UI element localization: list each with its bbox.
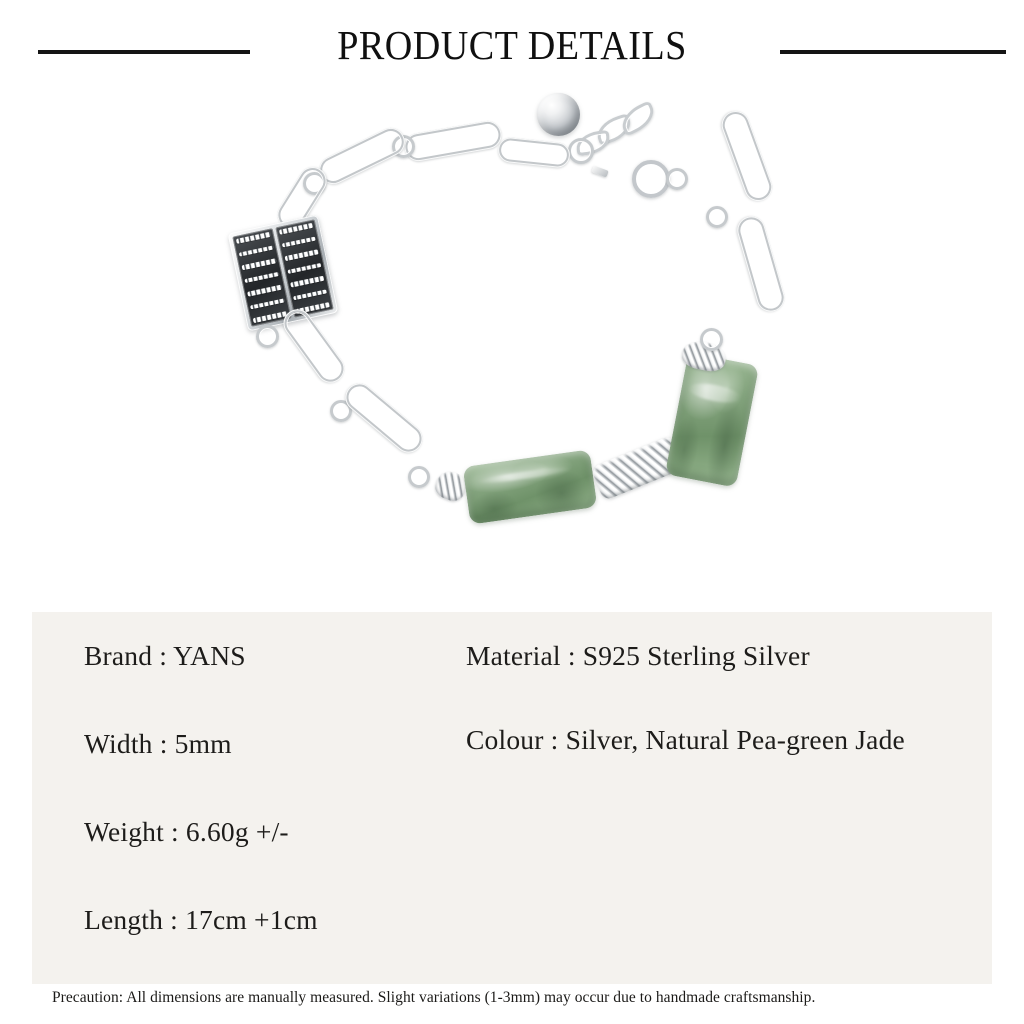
- jump-ring: [256, 325, 279, 348]
- abacus-bead-row: [284, 249, 319, 261]
- abacus-bead-row: [290, 276, 325, 288]
- abacus-bead-row: [239, 245, 274, 257]
- abacus-charm: [228, 215, 339, 332]
- spec-width: Width : 5mm: [84, 726, 484, 762]
- chain-link: [718, 107, 776, 205]
- abacus-bead-row: [293, 289, 328, 301]
- ball-charm: [537, 93, 580, 136]
- spec-column-left: Brand : YANS Width : 5mm Weight : 6.60g …: [84, 638, 484, 990]
- abacus-bead-row: [236, 232, 271, 244]
- abacus-bead-row: [281, 236, 316, 248]
- spec-panel: Brand : YANS Width : 5mm Weight : 6.60g …: [32, 612, 992, 984]
- clasp-tab: [591, 165, 608, 177]
- chain-link: [497, 136, 571, 168]
- product-photo: [0, 80, 1024, 610]
- abacus-bead-row: [244, 272, 279, 284]
- spec-colour: Colour : Silver, Natural Pea-green Jade: [466, 722, 936, 758]
- page-title: PRODUCT DETAILS: [36, 21, 988, 69]
- abacus-bead-row: [247, 285, 282, 297]
- jump-ring: [568, 138, 594, 164]
- spec-weight: Weight : 6.60g +/-: [84, 814, 484, 850]
- chain-link: [315, 123, 410, 188]
- header-rule-right: [780, 50, 1006, 54]
- jade-cylinder-bead: [665, 352, 759, 487]
- abacus-bead-row: [250, 298, 285, 310]
- spec-material: Material : S925 Sterling Silver: [466, 638, 936, 674]
- chain-link: [734, 213, 788, 315]
- spec-brand: Brand : YANS: [84, 638, 484, 674]
- precaution-note: Precaution: All dimensions are manually …: [52, 987, 1004, 1009]
- jump-ring: [666, 168, 688, 190]
- abacus-bead-row: [287, 263, 322, 275]
- abacus-bead-row: [242, 258, 277, 270]
- jump-ring: [700, 328, 723, 351]
- spec-length: Length : 17cm +1cm: [84, 902, 484, 938]
- chain-link: [340, 378, 428, 459]
- product-details-page: PRODUCT DETAILS: [0, 0, 1024, 1024]
- spec-column-right: Material : S925 Sterling Silver Colour :…: [466, 638, 936, 806]
- jump-ring: [408, 466, 430, 488]
- jade-cylinder-bead: [463, 449, 598, 524]
- jump-ring: [706, 206, 728, 228]
- chain-link: [402, 119, 503, 164]
- abacus-bead-row: [278, 223, 313, 235]
- spring-ring-clasp: [632, 160, 670, 198]
